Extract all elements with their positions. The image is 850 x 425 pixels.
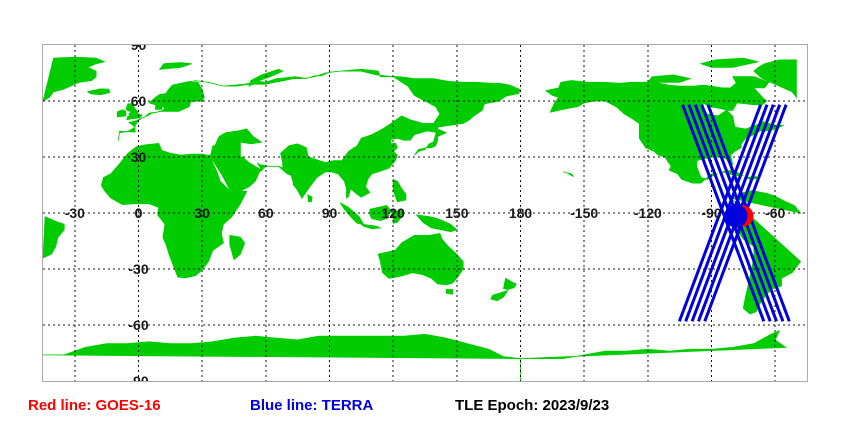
landmass-tasmania bbox=[446, 290, 452, 295]
landmass-namerica bbox=[546, 81, 784, 184]
landmass-australia bbox=[378, 234, 463, 285]
lon-tick--60: -60 bbox=[765, 206, 785, 220]
legend-terra: Blue line: TERRA bbox=[250, 398, 373, 413]
landmass-newzealand1 bbox=[504, 278, 517, 289]
lon-tick-120: 120 bbox=[381, 206, 404, 220]
terra-position-marker bbox=[725, 204, 748, 227]
legend-goes16: Red line: GOES-16 bbox=[28, 398, 161, 413]
legend-tle-epoch: TLE Epoch: 2023/9/23 bbox=[455, 398, 609, 413]
lat-tick--90: -90 bbox=[128, 374, 148, 382]
landmass-java bbox=[361, 224, 380, 229]
lat-tick--30: -30 bbox=[128, 262, 148, 276]
landmass-antarctica bbox=[43, 334, 521, 381]
landmass-iceland bbox=[88, 89, 110, 95]
lat-tick--60: -60 bbox=[128, 318, 148, 332]
world-map-panel: 9060300-30-60-90-300306090120150180-150-… bbox=[42, 44, 808, 382]
landmass-svalbard bbox=[160, 63, 192, 70]
landmass-victoria bbox=[648, 75, 691, 82]
landmass-samerica bbox=[43, 217, 64, 258]
landmass-newzealand2 bbox=[491, 291, 508, 301]
lon-tick-60: 60 bbox=[258, 206, 274, 220]
landmass-philippines bbox=[393, 179, 406, 201]
landmass-india_note bbox=[281, 144, 326, 198]
landmass-antarctica bbox=[521, 331, 786, 359]
satellite-track-map-page: 9060300-30-60-90-300306090120150180-150-… bbox=[0, 0, 850, 425]
lon-tick--120: -120 bbox=[634, 206, 662, 220]
lat-tick-90: 90 bbox=[131, 44, 147, 52]
lon-tick-0: 0 bbox=[135, 206, 143, 220]
landmass-ellesmere bbox=[701, 58, 758, 67]
lon-tick--90: -90 bbox=[701, 206, 721, 220]
lon-tick-150: 150 bbox=[445, 206, 468, 220]
world-map-canvas bbox=[43, 45, 807, 381]
lat-tick-30: 30 bbox=[131, 150, 147, 164]
landmass-madagascar bbox=[230, 235, 245, 259]
lon-tick--30: -30 bbox=[65, 206, 85, 220]
lon-tick-90: 90 bbox=[322, 206, 338, 220]
legend-bar: Red line: GOES-16 Blue line: TERRA TLE E… bbox=[0, 394, 850, 425]
landmass-layer bbox=[43, 57, 801, 381]
landmass-hawaii bbox=[563, 172, 574, 177]
landmass-sl bbox=[308, 195, 312, 202]
lat-tick-60: 60 bbox=[131, 94, 147, 108]
lon-tick-180: 180 bbox=[509, 206, 532, 220]
lon-tick--150: -150 bbox=[570, 206, 598, 220]
lon-tick-30: 30 bbox=[194, 206, 210, 220]
landmass-ireland bbox=[117, 110, 126, 117]
landmass-asia bbox=[194, 69, 521, 198]
